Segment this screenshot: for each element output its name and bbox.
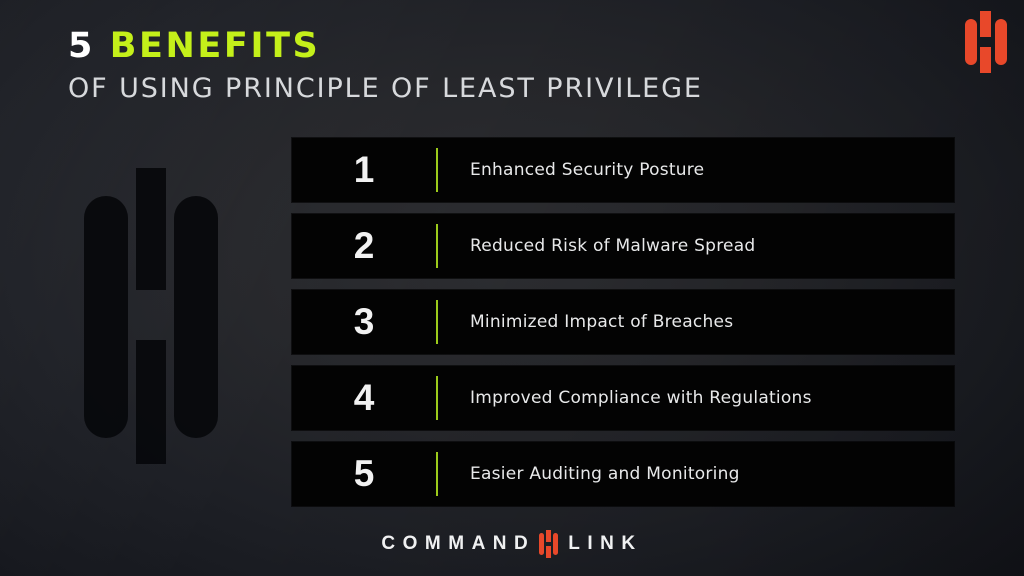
title-accent-word: BENEFITS <box>110 26 321 66</box>
benefits-list: 1 Enhanced Security Posture 2 Reduced Ri… <box>292 138 954 506</box>
list-item-number: 5 <box>292 455 436 494</box>
list-item-label: Minimized Impact of Breaches <box>438 312 954 332</box>
list-item-label: Easier Auditing and Monitoring <box>438 464 954 484</box>
footer-wordmark: COMMAND LINK <box>0 530 1024 558</box>
headline-block: 5 BENEFITS OF USING PRINCIPLE OF LEAST P… <box>68 24 703 106</box>
list-item-label: Reduced Risk of Malware Spread <box>438 236 954 256</box>
slide-canvas: 5 BENEFITS OF USING PRINCIPLE OF LEAST P… <box>0 0 1024 576</box>
page-subtitle: OF USING PRINCIPLE OF LEAST PRIVILEGE <box>68 72 703 106</box>
commandlink-h-watermark-icon <box>82 168 220 464</box>
list-item-number: 3 <box>292 303 436 342</box>
title-space <box>95 26 110 66</box>
list-item-number: 4 <box>292 379 436 418</box>
list-item[interactable]: 3 Minimized Impact of Breaches <box>292 290 954 354</box>
list-item-label: Improved Compliance with Regulations <box>438 388 954 408</box>
commandlink-h-logo-icon <box>539 530 558 558</box>
list-item-number: 1 <box>292 151 436 190</box>
list-item-number: 2 <box>292 227 436 266</box>
commandlink-h-logo-icon <box>964 11 1008 73</box>
list-item[interactable]: 4 Improved Compliance with Regulations <box>292 366 954 430</box>
background-watermark <box>82 168 220 464</box>
list-item[interactable]: 1 Enhanced Security Posture <box>292 138 954 202</box>
list-item[interactable]: 2 Reduced Risk of Malware Spread <box>292 214 954 278</box>
list-item-label: Enhanced Security Posture <box>438 160 954 180</box>
page-title: 5 BENEFITS <box>68 24 703 68</box>
wordmark-right: LINK <box>568 533 642 555</box>
corner-brand-logo <box>964 11 1008 73</box>
wordmark-left: COMMAND <box>381 533 535 555</box>
title-count: 5 <box>68 26 95 66</box>
list-item[interactable]: 5 Easier Auditing and Monitoring <box>292 442 954 506</box>
